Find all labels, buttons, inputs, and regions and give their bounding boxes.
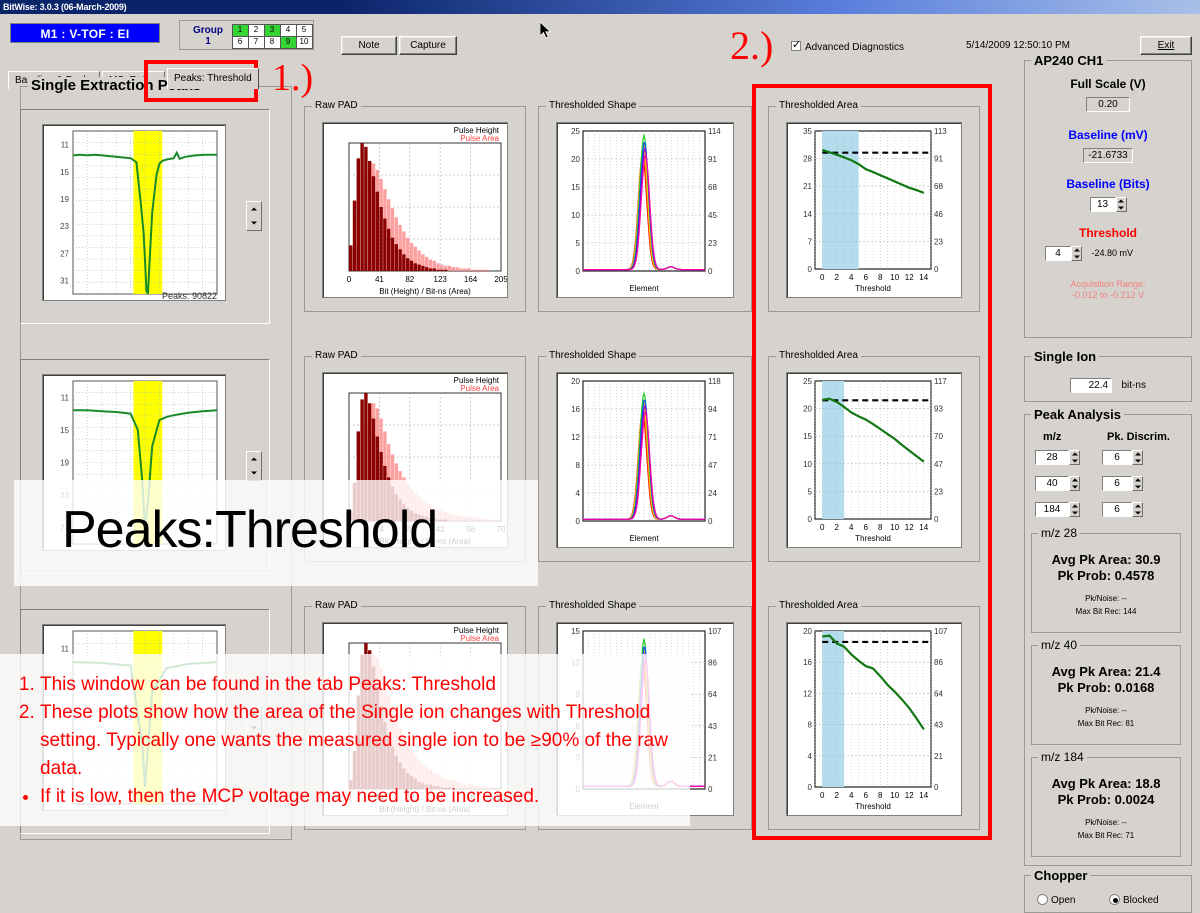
svg-text:14: 14 bbox=[919, 523, 928, 532]
svg-text:2: 2 bbox=[835, 273, 840, 282]
svg-text:164: 164 bbox=[464, 275, 478, 284]
group-cell-grid[interactable]: 12345678910 bbox=[232, 24, 312, 48]
pk-prob: Pk Prob: 0.0168 bbox=[1032, 680, 1180, 696]
svg-text:12: 12 bbox=[905, 523, 914, 532]
svg-text:15: 15 bbox=[60, 426, 69, 435]
svg-text:4: 4 bbox=[849, 791, 854, 800]
discrim-spin-buttons[interactable] bbox=[1132, 450, 1143, 465]
raw-pad-frame-legend: Raw PAD bbox=[312, 600, 361, 611]
svg-text:107: 107 bbox=[708, 627, 722, 636]
threshold-spin-buttons[interactable] bbox=[1071, 246, 1082, 261]
svg-text:47: 47 bbox=[934, 460, 943, 469]
chopper-legend: Chopper bbox=[1031, 868, 1090, 883]
svg-text:86: 86 bbox=[708, 659, 717, 668]
svg-text:64: 64 bbox=[708, 690, 717, 699]
svg-text:70: 70 bbox=[934, 432, 943, 441]
spin-down-icon[interactable] bbox=[1072, 254, 1081, 261]
mouse-cursor-icon bbox=[540, 22, 554, 40]
group-selector[interactable]: Group1 12345678910 bbox=[179, 20, 314, 50]
thresholded-shape-frame-legend: Thresholded Shape bbox=[546, 350, 639, 361]
overlay-title: Peaks:Threshold bbox=[62, 500, 437, 560]
discrim-stepper[interactable]: 6 bbox=[1102, 502, 1143, 517]
peak-result-legend: m/z 28 bbox=[1038, 526, 1080, 540]
mz-value[interactable]: 28 bbox=[1035, 450, 1069, 465]
pk-prob: Pk Prob: 0.4578 bbox=[1032, 568, 1180, 584]
svg-text:23: 23 bbox=[934, 487, 943, 496]
svg-text:2: 2 bbox=[835, 791, 840, 800]
svg-text:31: 31 bbox=[60, 276, 69, 285]
svg-text:0: 0 bbox=[934, 515, 939, 524]
discrim-value[interactable]: 6 bbox=[1102, 502, 1132, 517]
svg-text:0: 0 bbox=[934, 265, 939, 274]
spin-down-icon[interactable] bbox=[247, 466, 261, 480]
mz-value[interactable]: 40 bbox=[1035, 476, 1069, 491]
svg-text:107: 107 bbox=[934, 627, 948, 636]
svg-text:8: 8 bbox=[576, 461, 581, 470]
annotation-marker-2: 2.) bbox=[730, 22, 773, 69]
thresholded-area-frame-legend: Thresholded Area bbox=[776, 350, 861, 361]
discrim-value[interactable]: 6 bbox=[1102, 450, 1132, 465]
discrim-stepper[interactable]: 6 bbox=[1102, 450, 1143, 465]
baseline-bits-spin-buttons[interactable] bbox=[1116, 197, 1127, 212]
svg-text:43: 43 bbox=[934, 721, 943, 730]
thresholded-area-plot[interactable]: 252015105011793704723002468101214Thresho… bbox=[786, 372, 962, 548]
svg-text:25: 25 bbox=[803, 377, 812, 386]
mz-spin-buttons[interactable] bbox=[1069, 450, 1080, 465]
spin-down-icon[interactable] bbox=[1070, 458, 1079, 465]
svg-text:118: 118 bbox=[708, 377, 721, 386]
discrim-value[interactable]: 6 bbox=[1102, 476, 1132, 491]
baseline-mv-label: Baseline (mV) bbox=[1025, 128, 1191, 142]
chopper-open-label: Open bbox=[1051, 895, 1075, 906]
svg-text:6: 6 bbox=[864, 791, 869, 800]
discrim-spin-buttons[interactable] bbox=[1132, 476, 1143, 491]
discrim-spin-buttons[interactable] bbox=[1132, 502, 1143, 517]
spin-down-icon[interactable] bbox=[1133, 484, 1142, 491]
peak-analysis-col-discrim: Pk. Discrim. bbox=[1107, 431, 1170, 443]
full-scale-value[interactable]: 0.20 bbox=[1086, 97, 1130, 112]
annotation-marker-1: 1.) bbox=[272, 56, 313, 100]
group-cell-8[interactable]: 8 bbox=[264, 36, 281, 49]
svg-text:Bit (Height) / Bit-ns (Area): Bit (Height) / Bit-ns (Area) bbox=[379, 287, 471, 296]
svg-text:10: 10 bbox=[890, 523, 899, 532]
spin-down-icon[interactable] bbox=[1070, 510, 1079, 517]
ap240-legend: AP240 CH1 bbox=[1031, 53, 1106, 68]
scroll-spin-buttons[interactable] bbox=[246, 201, 262, 231]
tab-peaks-threshold[interactable]: Peaks: Threshold bbox=[167, 68, 259, 89]
spin-down-icon[interactable] bbox=[1070, 484, 1079, 491]
checkbox-icon[interactable] bbox=[791, 41, 801, 51]
svg-text:14: 14 bbox=[919, 791, 928, 800]
svg-text:6: 6 bbox=[864, 273, 869, 282]
mz-spin-buttons[interactable] bbox=[1069, 502, 1080, 517]
svg-text:82: 82 bbox=[405, 275, 414, 284]
svg-text:2: 2 bbox=[835, 523, 840, 532]
raw-pad-frame-legend: Raw PAD bbox=[312, 350, 361, 361]
svg-text:0: 0 bbox=[808, 515, 813, 524]
peak-result-box: m/z 184Avg Pk Area: 18.8Pk Prob: 0.0024P… bbox=[1031, 757, 1181, 857]
threshold-value[interactable]: 4 bbox=[1045, 246, 1071, 261]
group-cell-7[interactable]: 7 bbox=[248, 36, 265, 49]
svg-text:0: 0 bbox=[934, 783, 939, 792]
svg-text:91: 91 bbox=[934, 155, 943, 164]
svg-text:20: 20 bbox=[571, 155, 580, 164]
svg-text:4: 4 bbox=[849, 273, 854, 282]
svg-text:6: 6 bbox=[864, 523, 869, 532]
thresholded-shape-plot[interactable]: 2520151050114916845230Element bbox=[556, 122, 734, 298]
svg-text:15: 15 bbox=[803, 432, 812, 441]
svg-text:64: 64 bbox=[934, 689, 943, 698]
svg-text:71: 71 bbox=[708, 433, 717, 442]
svg-text:7: 7 bbox=[808, 237, 813, 246]
svg-text:16: 16 bbox=[803, 658, 812, 667]
mz-spin-buttons[interactable] bbox=[1069, 476, 1080, 491]
svg-text:86: 86 bbox=[934, 658, 943, 667]
mz-value[interactable]: 184 bbox=[1035, 502, 1069, 517]
extraction-peak-plot[interactable]: 111519232731Peaks: 90822 bbox=[42, 124, 226, 301]
svg-text:15: 15 bbox=[571, 627, 580, 636]
threshold-mv-readout: -24.80 mV bbox=[1091, 248, 1133, 258]
single-ion-units: bit-ns bbox=[1122, 380, 1146, 391]
svg-text:28: 28 bbox=[803, 155, 812, 164]
svg-text:5: 5 bbox=[808, 487, 813, 496]
svg-text:21: 21 bbox=[803, 182, 812, 191]
svg-text:19: 19 bbox=[60, 459, 69, 468]
full-scale-label: Full Scale (V) bbox=[1025, 77, 1191, 91]
advanced-diagnostics-checkbox[interactable]: Advanced Diagnostics bbox=[791, 40, 904, 53]
overlay-list-item: These plots show how the area of the Sin… bbox=[40, 699, 684, 783]
overlay-bullet-list: If it is low, then the MCP voltage may n… bbox=[14, 783, 684, 811]
svg-text:Element: Element bbox=[629, 534, 659, 543]
peak-analysis-row[interactable]: 1846 bbox=[1035, 499, 1143, 517]
raw-pad-frame-legend: Raw PAD bbox=[312, 100, 361, 111]
svg-text:8: 8 bbox=[878, 273, 883, 282]
svg-text:68: 68 bbox=[708, 183, 717, 192]
right-sidebar: AP240 CH1 Full Scale (V) 0.20 Baseline (… bbox=[1024, 60, 1192, 900]
mz-stepper[interactable]: 184 bbox=[1035, 502, 1080, 517]
svg-text:117: 117 bbox=[934, 377, 947, 386]
thresholded-shape-frame-legend: Thresholded Shape bbox=[546, 600, 639, 611]
svg-text:20: 20 bbox=[571, 377, 580, 386]
svg-text:91: 91 bbox=[708, 155, 717, 164]
peak-analysis-panel: Peak Analysis m/z Pk. Discrim. 286406184… bbox=[1024, 414, 1192, 866]
app-client-area: M1 : V-TOF : EI Group1 12345678910 Note … bbox=[0, 14, 1200, 900]
max-bit-rec: Max Bit Rec: 71 bbox=[1032, 829, 1180, 842]
svg-text:12: 12 bbox=[571, 433, 580, 442]
overlay-instructions: This window can be found in the tab Peak… bbox=[14, 671, 684, 811]
avg-pk-area: Avg Pk Area: 21.4 bbox=[1032, 664, 1180, 680]
svg-text:25: 25 bbox=[571, 127, 580, 136]
mz-stepper[interactable]: 28 bbox=[1035, 450, 1080, 465]
svg-text:0: 0 bbox=[820, 523, 825, 532]
overlay-numbered-list: This window can be found in the tab Peak… bbox=[14, 671, 684, 783]
capture-button[interactable]: Capture bbox=[399, 36, 457, 55]
window-title-bar: BitWise: 3.0.3 (06-March-2009) bbox=[0, 0, 1200, 14]
extraction-peak-scroll-spinner[interactable] bbox=[246, 201, 262, 231]
svg-text:0: 0 bbox=[808, 783, 813, 792]
threshold-stepper[interactable]: 4 bbox=[1045, 246, 1082, 261]
svg-text:123: 123 bbox=[434, 275, 448, 284]
svg-text:114: 114 bbox=[708, 127, 721, 136]
group-cell-6[interactable]: 6 bbox=[232, 36, 249, 49]
spin-down-icon[interactable] bbox=[247, 216, 261, 230]
svg-text:4: 4 bbox=[576, 489, 581, 498]
chopper-blocked-radio[interactable]: Blocked bbox=[1109, 892, 1159, 906]
svg-text:35: 35 bbox=[803, 127, 812, 136]
note-button[interactable]: Note bbox=[341, 36, 397, 55]
mz-stepper[interactable]: 40 bbox=[1035, 476, 1080, 491]
svg-text:0: 0 bbox=[576, 517, 581, 526]
chopper-open-radio[interactable]: Open bbox=[1037, 892, 1075, 906]
svg-text:45: 45 bbox=[708, 211, 717, 220]
group-cell-9[interactable]: 9 bbox=[280, 36, 297, 49]
svg-text:0: 0 bbox=[708, 785, 713, 794]
thresholded-area-frame-legend: Thresholded Area bbox=[776, 600, 861, 611]
max-bit-rec: Max Bit Rec: 144 bbox=[1032, 605, 1180, 618]
svg-text:14: 14 bbox=[803, 210, 812, 219]
svg-text:20: 20 bbox=[803, 627, 812, 636]
scroll-spin-buttons[interactable] bbox=[246, 451, 262, 481]
window-title: BitWise: 3.0.3 (06-March-2009) bbox=[3, 2, 126, 12]
baseline-mv-value[interactable]: -21.6733 bbox=[1083, 148, 1133, 163]
extraction-peak-scroll-spinner[interactable] bbox=[246, 451, 262, 481]
svg-text:Pulse Area: Pulse Area bbox=[460, 134, 499, 143]
svg-text:0: 0 bbox=[708, 267, 713, 276]
svg-text:11: 11 bbox=[61, 141, 70, 150]
svg-text:0: 0 bbox=[576, 267, 581, 276]
tab-label: Peaks: Threshold bbox=[174, 73, 252, 84]
max-bit-rec: Max Bit Rec: 81 bbox=[1032, 717, 1180, 730]
peak-result-legend: m/z 184 bbox=[1038, 750, 1087, 764]
peak-analysis-legend: Peak Analysis bbox=[1031, 407, 1124, 422]
svg-text:12: 12 bbox=[905, 273, 914, 282]
peak-analysis-col-mz: m/z bbox=[1043, 431, 1061, 443]
svg-text:14: 14 bbox=[919, 273, 928, 282]
svg-text:Element: Element bbox=[629, 284, 659, 293]
svg-text:10: 10 bbox=[571, 211, 580, 220]
datetime-readout: 5/14/2009 12:50:10 PM bbox=[966, 40, 1070, 51]
svg-text:41: 41 bbox=[375, 275, 384, 284]
single-ion-legend: Single Ion bbox=[1031, 349, 1099, 364]
svg-text:10: 10 bbox=[890, 791, 899, 800]
svg-text:Threshold: Threshold bbox=[855, 284, 891, 293]
pk-prob: Pk Prob: 0.0024 bbox=[1032, 792, 1180, 808]
mode-badge[interactable]: M1 : V-TOF : EI bbox=[10, 23, 160, 43]
avg-pk-area: Avg Pk Area: 30.9 bbox=[1032, 552, 1180, 568]
svg-text:10: 10 bbox=[803, 460, 812, 469]
svg-text:8: 8 bbox=[808, 721, 813, 730]
svg-text:0: 0 bbox=[708, 517, 713, 526]
svg-text:Pulse Area: Pulse Area bbox=[460, 634, 499, 643]
svg-text:10: 10 bbox=[890, 273, 899, 282]
group-label: Group1 bbox=[185, 25, 231, 47]
chopper-blocked-label: Blocked bbox=[1123, 895, 1159, 906]
svg-text:Peaks: 90822: Peaks: 90822 bbox=[162, 291, 217, 300]
thresholded-area-frame-legend: Thresholded Area bbox=[776, 100, 861, 111]
svg-text:0: 0 bbox=[808, 265, 813, 274]
baseline-bits-stepper[interactable]: 13 bbox=[1090, 197, 1127, 212]
thresholded-shape-frame-legend: Thresholded Shape bbox=[546, 100, 639, 111]
single-ion-value[interactable]: 22.4 bbox=[1070, 378, 1112, 393]
thresholded-area-plot[interactable]: 20161284010786644321002468101214Threshol… bbox=[786, 622, 962, 816]
svg-text:5: 5 bbox=[576, 239, 581, 248]
svg-text:23: 23 bbox=[60, 222, 69, 231]
svg-text:21: 21 bbox=[708, 753, 717, 762]
svg-text:19: 19 bbox=[60, 195, 69, 204]
svg-text:0: 0 bbox=[820, 273, 825, 282]
spin-down-icon[interactable] bbox=[1133, 510, 1142, 517]
svg-text:47: 47 bbox=[708, 461, 717, 470]
acquisition-range-line2: -0.012 to -0.212 V bbox=[1025, 290, 1191, 301]
group-cell-10[interactable]: 10 bbox=[296, 36, 313, 49]
svg-text:43: 43 bbox=[708, 722, 717, 731]
svg-text:12: 12 bbox=[905, 791, 914, 800]
advanced-diagnostics-label: Advanced Diagnostics bbox=[805, 42, 904, 53]
peak-result-box: m/z 28Avg Pk Area: 30.9Pk Prob: 0.4578Pk… bbox=[1031, 533, 1181, 633]
svg-text:0: 0 bbox=[347, 275, 352, 284]
svg-text:46: 46 bbox=[934, 210, 943, 219]
svg-text:Threshold: Threshold bbox=[855, 534, 891, 543]
svg-text:68: 68 bbox=[934, 182, 943, 191]
spin-up-icon[interactable] bbox=[247, 202, 261, 216]
svg-text:Threshold: Threshold bbox=[855, 802, 891, 811]
svg-text:8: 8 bbox=[878, 523, 883, 532]
svg-text:11: 11 bbox=[61, 644, 70, 653]
baseline-bits-label: Baseline (Bits) bbox=[1025, 177, 1191, 191]
raw-pad-plot[interactable]: Pulse HeightPulse Area04182123164205Bit … bbox=[322, 122, 508, 298]
svg-text:4: 4 bbox=[808, 752, 813, 761]
svg-text:0: 0 bbox=[820, 791, 825, 800]
svg-text:20: 20 bbox=[803, 405, 812, 414]
threshold-label: Threshold bbox=[1025, 226, 1191, 240]
exit-button[interactable]: Exit bbox=[1140, 36, 1192, 55]
avg-pk-area: Avg Pk Area: 18.8 bbox=[1032, 776, 1180, 792]
overlay-bullet-item: If it is low, then the MCP voltage may n… bbox=[40, 783, 684, 811]
spin-down-icon[interactable] bbox=[1133, 458, 1142, 465]
ap240-panel: AP240 CH1 Full Scale (V) 0.20 Baseline (… bbox=[1024, 60, 1192, 338]
pk-noise: Pk/Noise: -- bbox=[1032, 704, 1180, 717]
svg-text:Pulse Area: Pulse Area bbox=[460, 384, 499, 393]
single-ion-panel: Single Ion 22.4 bit-ns bbox=[1024, 356, 1192, 402]
svg-text:94: 94 bbox=[708, 405, 717, 414]
peak-result-box: m/z 40Avg Pk Area: 21.4Pk Prob: 0.0168Pk… bbox=[1031, 645, 1181, 745]
svg-text:15: 15 bbox=[571, 183, 580, 192]
pk-noise: Pk/Noise: -- bbox=[1032, 816, 1180, 829]
svg-text:27: 27 bbox=[60, 249, 69, 258]
svg-text:12: 12 bbox=[803, 689, 812, 698]
spin-up-icon[interactable] bbox=[247, 452, 261, 466]
discrim-stepper[interactable]: 6 bbox=[1102, 476, 1143, 491]
svg-text:15: 15 bbox=[60, 168, 69, 177]
svg-text:16: 16 bbox=[571, 405, 580, 414]
peak-analysis-row[interactable]: 286 bbox=[1035, 447, 1143, 465]
svg-text:24: 24 bbox=[708, 489, 717, 498]
svg-text:23: 23 bbox=[708, 239, 717, 248]
pk-noise: Pk/Noise: -- bbox=[1032, 592, 1180, 605]
svg-text:93: 93 bbox=[934, 405, 943, 414]
overlay-list-item: This window can be found in the tab Peak… bbox=[40, 671, 684, 699]
svg-text:113: 113 bbox=[934, 127, 947, 136]
peak-result-legend: m/z 40 bbox=[1038, 638, 1080, 652]
svg-text:8: 8 bbox=[878, 791, 883, 800]
baseline-bits-value[interactable]: 13 bbox=[1090, 197, 1116, 212]
chopper-panel: Chopper Open Blocked bbox=[1024, 875, 1192, 913]
thresholded-shape-plot[interactable]: 201612840118947147240Element bbox=[556, 372, 734, 548]
svg-text:23: 23 bbox=[934, 237, 943, 246]
peak-analysis-row[interactable]: 406 bbox=[1035, 473, 1143, 491]
svg-text:11: 11 bbox=[61, 393, 70, 402]
spin-down-icon[interactable] bbox=[1117, 205, 1126, 212]
svg-text:205: 205 bbox=[494, 275, 507, 284]
thresholded-area-plot[interactable]: 352821147011391684623002468101214Thresho… bbox=[786, 122, 962, 298]
acquisition-range-line1: Acquisition Range: bbox=[1025, 279, 1191, 290]
svg-text:4: 4 bbox=[849, 523, 854, 532]
svg-text:21: 21 bbox=[934, 752, 943, 761]
